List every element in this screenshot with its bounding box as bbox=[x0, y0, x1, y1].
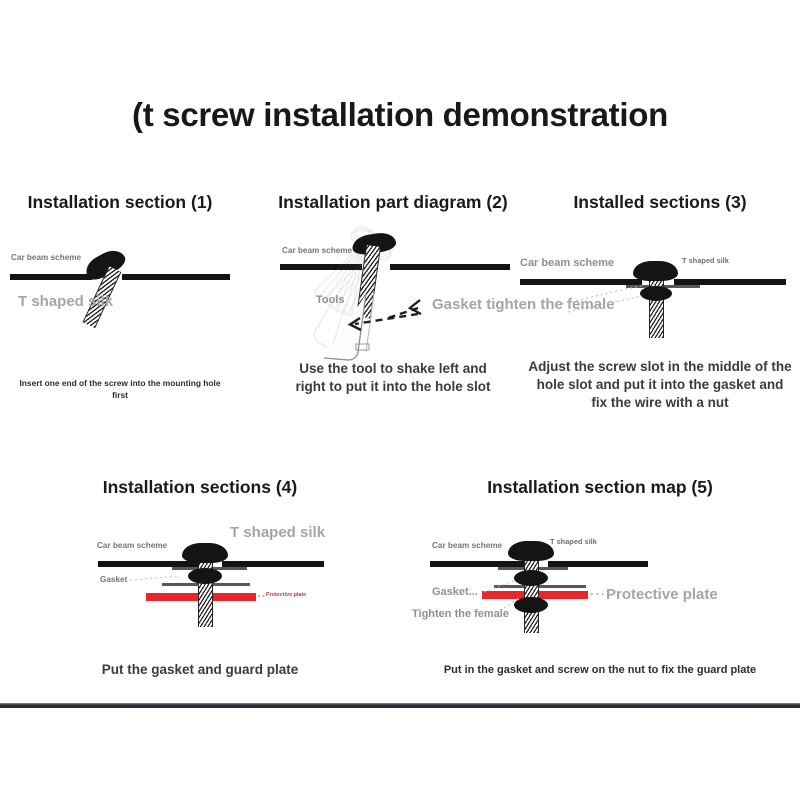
bottom-divider bbox=[0, 703, 800, 708]
page-title: (t screw installation demonstration bbox=[0, 96, 800, 134]
panel-installed-sections-3: Installed sections (3) Car beam scheme T… bbox=[520, 192, 800, 407]
panel-1-title: Installation section (1) bbox=[0, 192, 240, 213]
panel-2-caption: Use the tool to shake left and right to … bbox=[262, 360, 524, 396]
panel-1-label-t-screw: T shaped silk bbox=[18, 293, 113, 310]
panel-installation-sections-4: Installation sections (4) Car beam schem… bbox=[0, 477, 400, 692]
panel-2-title: Installation part diagram (2) bbox=[262, 192, 524, 213]
panel-1-figure: Car beam scheme T shaped silk bbox=[0, 237, 240, 357]
panel-3-figure: Car beam scheme T shaped silk Gasket tig… bbox=[520, 238, 800, 356]
panel-5-title: Installation section map (5) bbox=[400, 477, 800, 498]
panel-4-title: Installation sections (4) bbox=[0, 477, 400, 498]
panel-5-caption: Put in the gasket and screw on the nut t… bbox=[400, 663, 800, 678]
panel-2-label-car-beam: Car beam scheme bbox=[282, 246, 352, 255]
panel-4-caption: Put the gasket and guard plate bbox=[0, 661, 400, 679]
panel-5-figure: Car beam scheme T shaped silk Gasket... … bbox=[420, 535, 800, 650]
panel-1-label-car-beam: Car beam scheme bbox=[11, 253, 81, 262]
leader-lines bbox=[420, 535, 800, 650]
panel-3-title: Installed sections (3) bbox=[520, 192, 800, 213]
panel-2-label-tools: Tools bbox=[316, 294, 345, 306]
panel-installation-section-map-5: Installation section map (5) Car beam sc… bbox=[400, 477, 800, 692]
panel-1-caption: Insert one end of the screw into the mou… bbox=[0, 378, 240, 402]
leader-lines bbox=[520, 238, 800, 356]
panel-installation-section-1: Installation section (1) Car beam scheme… bbox=[0, 192, 240, 402]
car-beam-left bbox=[10, 274, 92, 280]
panel-3-caption: Adjust the screw slot in the middle of t… bbox=[520, 358, 800, 413]
instruction-poster: (t screw installation demonstration Inst… bbox=[0, 0, 800, 800]
leader-lines bbox=[60, 535, 350, 645]
car-beam-right bbox=[122, 274, 230, 280]
panel-4-figure: Car beam scheme T shaped silk Gasket Pro… bbox=[60, 535, 350, 645]
